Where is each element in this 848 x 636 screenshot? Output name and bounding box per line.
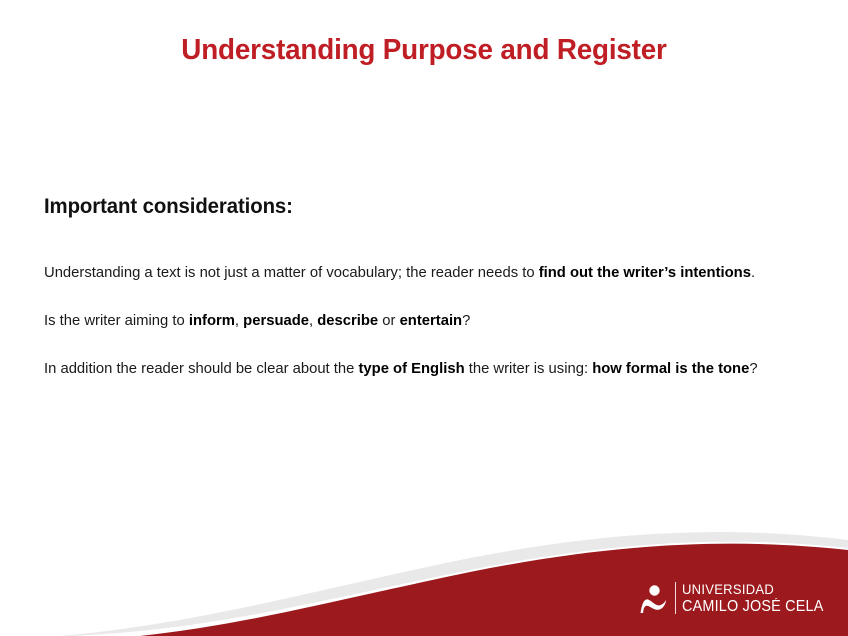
paragraph-1-text-c: . (751, 264, 755, 281)
logo-wordmark: UNIVERSIDAD CAMILO JOSÉ CELA (675, 582, 834, 615)
paragraph-1-text-a: Understanding a text is not just a matte… (44, 264, 539, 281)
paragraph-2-text-g: or (378, 312, 399, 329)
paragraph-2-text-a: Is the writer aiming to (44, 312, 189, 329)
paragraph-3-text-a: In addition the reader should be clear a… (44, 360, 358, 377)
logo-line-universidad: UNIVERSIDAD (682, 582, 824, 596)
paragraph-3-text-e: ? (749, 360, 757, 377)
paragraph-1-emphasis: find out the writer’s intentions (539, 264, 751, 281)
paragraph-2-text-i: ? (462, 312, 470, 329)
paragraph-2-text-e: , (309, 312, 317, 329)
paragraph-3-emphasis-type: type of English (358, 360, 464, 377)
paragraph-2-emphasis-persuade: persuade (243, 312, 309, 329)
paragraph-2: Is the writer aiming to inform, persuade… (44, 311, 801, 330)
paragraph-3-text-c: the writer is using: (465, 360, 593, 377)
section-heading: Important considerations: (44, 195, 797, 219)
paragraph-2-emphasis-inform: inform (189, 312, 235, 329)
paragraph-3: In addition the reader should be clear a… (44, 359, 801, 378)
slide-body: Important considerations: Understanding … (44, 195, 820, 378)
paragraph-3-emphasis-tone: how formal is the tone (592, 360, 749, 377)
paragraph-1: Understanding a text is not just a matte… (44, 263, 801, 282)
university-logo: UNIVERSIDAD CAMILO JOSÉ CELA (638, 582, 834, 615)
paragraph-2-emphasis-entertain: entertain (400, 312, 463, 329)
paragraph-2-emphasis-describe: describe (317, 312, 378, 329)
person-icon (638, 582, 668, 614)
page-title: Understanding Purpose and Register (17, 34, 831, 67)
slide-canvas: Understanding Purpose and Register Impor… (0, 0, 848, 636)
logo-line-camilo-jose-cela: CAMILO JOSÉ CELA (682, 599, 824, 615)
